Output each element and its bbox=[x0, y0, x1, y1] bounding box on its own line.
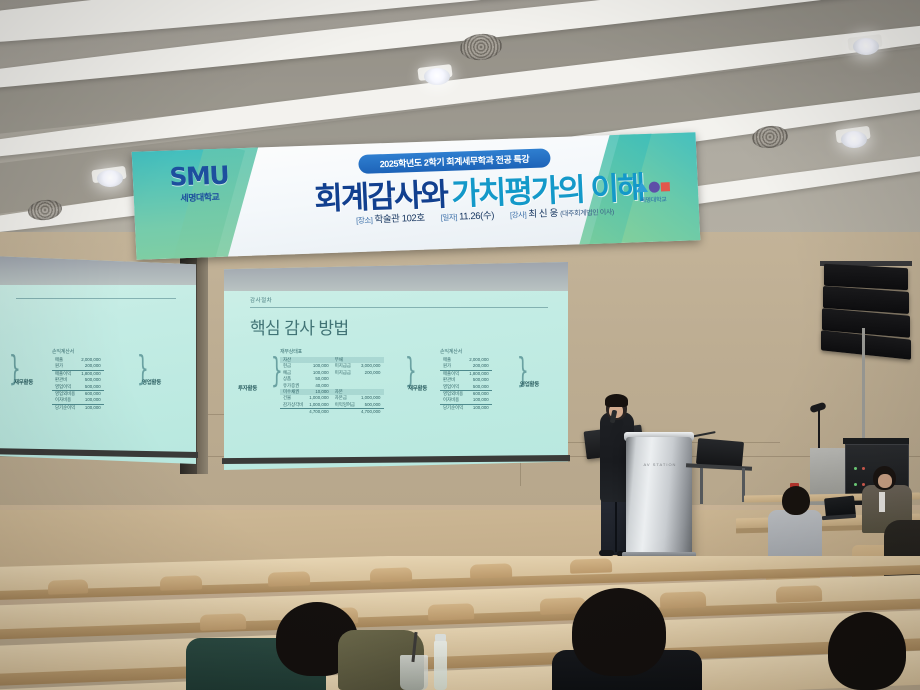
slide-rule bbox=[250, 307, 548, 308]
square-icon bbox=[661, 182, 670, 191]
table-row: 당기순이익100,000 bbox=[52, 404, 104, 411]
audience-face bbox=[878, 474, 892, 488]
triangle-icon bbox=[636, 182, 648, 192]
flow-label-operating: 영업활동 bbox=[520, 380, 539, 388]
table-row: 감가상각비1,000,000이익잉여금500,000 bbox=[280, 402, 384, 409]
speaker-support-pole bbox=[862, 328, 865, 446]
table-leg bbox=[700, 468, 703, 504]
table-row: 당기순이익100,000 bbox=[440, 404, 492, 411]
banner-info-venue: [장소]학술관 102호 bbox=[356, 210, 425, 226]
flow-label-operating: 영업활동 bbox=[142, 378, 161, 386]
left-income-statement-block: 손익계산서 매출2,000,000 원가200,000 매출이익1,800,00… bbox=[52, 348, 104, 411]
balance-sheet-block: 재무상태표 자산 부채 현금100,000미지급금3,000,000 예금100… bbox=[280, 348, 384, 415]
seat bbox=[370, 567, 412, 582]
ceiling-spotlight bbox=[424, 68, 450, 85]
income-statement-caption: 손익계산서 bbox=[52, 348, 104, 355]
podium-brand-label: AV STATION bbox=[638, 462, 682, 467]
circle-icon bbox=[649, 181, 660, 192]
slide-title: 핵심 감사 방법 bbox=[250, 314, 558, 339]
university-logo: SMU 세명대학교 bbox=[156, 162, 242, 205]
seat bbox=[48, 579, 88, 594]
table-row: 영업이익500,000 bbox=[52, 384, 104, 391]
wall-column bbox=[196, 238, 208, 474]
seat bbox=[776, 585, 823, 603]
lecture-hall-photo: SMU 세명대학교 2025학년도 2학기 회계세무학과 전공 특강 회계감사와… bbox=[0, 0, 920, 690]
table-row: 이자비용100,000 bbox=[440, 397, 492, 404]
income-statement-block: 손익계산서 매출2,000,000 원가200,000 매출이익1,800,00… bbox=[440, 348, 492, 411]
table-row: 이자비용100,000 bbox=[52, 397, 104, 404]
presenter-leg-gap bbox=[615, 500, 617, 552]
seat bbox=[160, 575, 202, 590]
table-row: 원가200,000 bbox=[52, 363, 104, 370]
seat bbox=[200, 613, 247, 631]
seat bbox=[470, 563, 512, 578]
left-slide-content: 손익계산서 매출2,000,000 원가200,000 매출이익1,800,00… bbox=[0, 256, 196, 464]
seat bbox=[268, 571, 310, 586]
secondary-logo: 세명대학교 bbox=[620, 181, 688, 223]
income-statement-table: 매출2,000,000 원가200,000 매출이익1,800,000 판관비5… bbox=[52, 357, 104, 411]
slide-rule bbox=[16, 298, 176, 299]
event-banner: SMU 세명대학교 2025학년도 2학기 회계세무학과 전공 특강 회계감사와… bbox=[132, 132, 701, 260]
balance-sheet-caption: 재무상태표 bbox=[280, 348, 384, 355]
ceiling-spotlight bbox=[841, 131, 867, 148]
secondary-logo-text: 세명대학교 bbox=[620, 194, 686, 205]
table-row: 원가200,000 bbox=[440, 363, 492, 370]
foreground-audience-head bbox=[828, 612, 906, 690]
table-row: 영업이익500,000 bbox=[440, 384, 492, 391]
table-total-row: 4,700,0004,700,000 bbox=[280, 409, 384, 416]
income-statement-table: 매출2,000,000 원가200,000 매출이익1,800,000 판관비5… bbox=[440, 357, 492, 411]
secondary-logo-shapes bbox=[620, 181, 686, 194]
main-slide-content: 감사절차 핵심 감사 방법 재무상태표 자산 부채 현금100,000미지급금3… bbox=[224, 262, 568, 470]
rack-led-icon bbox=[854, 467, 857, 470]
mic-stand bbox=[818, 410, 820, 448]
brace-right: } bbox=[405, 354, 417, 388]
banner-info-date: [일자]11.26(수) bbox=[440, 207, 494, 223]
presenter-hair bbox=[605, 394, 628, 407]
slide-eyebrow: 감사절차 bbox=[250, 296, 558, 304]
foreground-audience-head bbox=[572, 588, 666, 676]
seat bbox=[428, 603, 475, 621]
balance-sheet-table: 자산 부채 현금100,000미지급금3,000,000 예금100,000미지… bbox=[280, 357, 384, 415]
brace-left: } bbox=[271, 354, 283, 388]
ceiling-spotlight bbox=[853, 38, 879, 55]
flow-label-financing: 재무활동 bbox=[408, 384, 427, 392]
seat bbox=[660, 591, 707, 609]
water-bottle bbox=[434, 640, 447, 690]
main-projection-screen: 감사절차 핵심 감사 방법 재무상태표 자산 부채 현금100,000미지급금3… bbox=[224, 262, 568, 470]
flow-label-investing: 투자활동 bbox=[238, 384, 257, 392]
audience-head bbox=[782, 486, 810, 515]
flow-label-financing: 재무활동 bbox=[14, 378, 33, 386]
ceiling-spotlight bbox=[97, 170, 123, 187]
rack-top-panel bbox=[843, 438, 909, 444]
rack-led-icon bbox=[854, 483, 857, 486]
rack-led-icon bbox=[862, 467, 865, 470]
rack-led-icon bbox=[862, 483, 865, 486]
income-statement-caption: 손익계산서 bbox=[440, 348, 492, 355]
seat bbox=[570, 558, 612, 573]
bottle-cap bbox=[435, 634, 446, 641]
left-projection-screen: 손익계산서 매출2,000,000 원가200,000 매출이익1,800,00… bbox=[0, 256, 196, 464]
foreground-seating bbox=[0, 556, 920, 690]
university-logo-mark: SMU bbox=[156, 162, 241, 190]
podium bbox=[626, 437, 692, 559]
audience-shirt bbox=[879, 492, 885, 512]
